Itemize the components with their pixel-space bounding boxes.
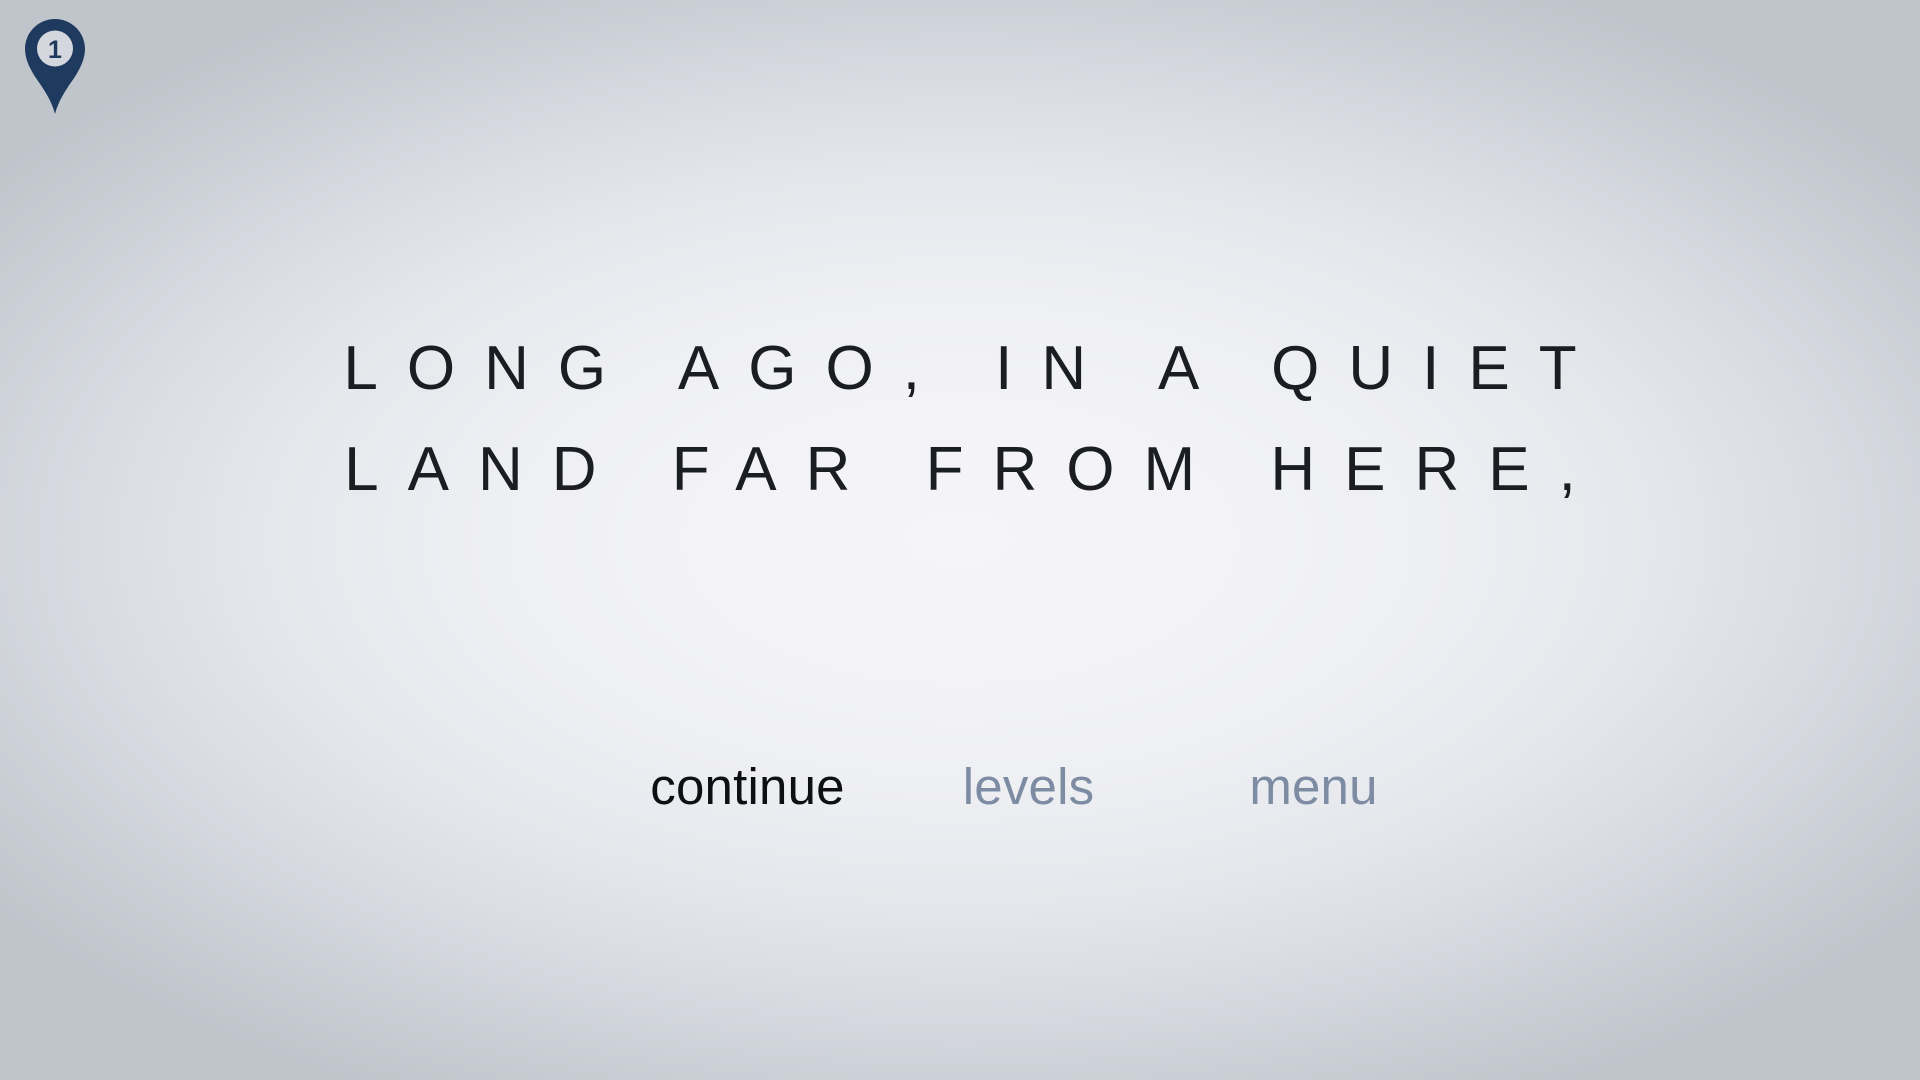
level-pin-badge[interactable]: 1 bbox=[24, 18, 86, 116]
story-line-1: LONG AGO, IN A QUIET bbox=[0, 318, 1920, 419]
story-narration-text: LONG AGO, IN A QUIET LAND FAR FROM HERE, bbox=[0, 318, 1920, 520]
story-intro-screen: 1 LONG AGO, IN A QUIET LAND FAR FROM HER… bbox=[0, 0, 1920, 1080]
continue-button[interactable]: continue bbox=[650, 752, 844, 822]
map-pin-icon bbox=[24, 18, 86, 116]
story-line-2: LAND FAR FROM HERE, bbox=[0, 419, 1920, 520]
levels-button[interactable]: levels bbox=[963, 752, 1095, 822]
bottom-menu-bar: continue levels menu bbox=[0, 752, 1920, 822]
menu-button[interactable]: menu bbox=[1249, 752, 1377, 822]
